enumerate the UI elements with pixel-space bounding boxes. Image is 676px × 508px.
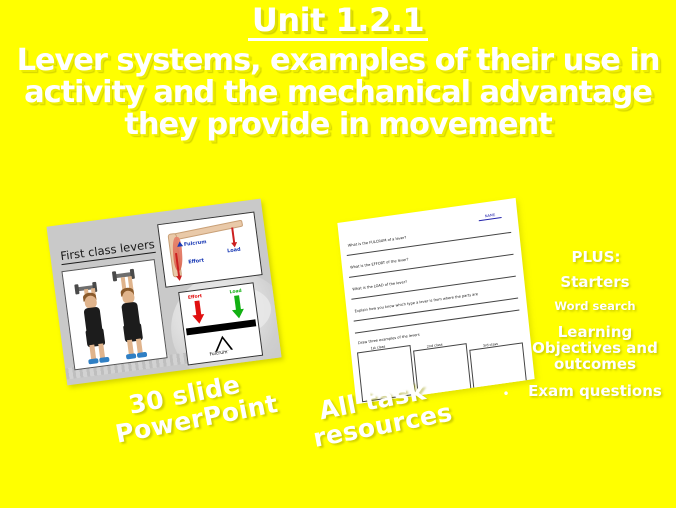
- name-field-label: NAME: [479, 212, 502, 221]
- load-arrow-icon: [232, 295, 243, 318]
- powerpoint-slide-preview[interactable]: First class levers: [46, 199, 281, 386]
- load-label: Load: [227, 247, 241, 255]
- worksheet-question: What is the EFFORT of the lever?: [350, 257, 409, 269]
- bullet-icon: •: [498, 384, 514, 400]
- tricep-extension-photo: [61, 259, 167, 370]
- plus-item: • Starters: [498, 275, 676, 291]
- powerpoint-caption-line1: 30 slide PowerPoint: [108, 368, 265, 448]
- plus-heading: PLUS:: [516, 248, 676, 266]
- plus-item-label: Word search: [514, 300, 676, 312]
- worksheet-question: What is the LOAD of the lever?: [352, 280, 407, 292]
- first-class-lever-diagram: Effort Load Fulcrum: [178, 282, 263, 365]
- plus-item-label: Exam questions: [514, 384, 676, 400]
- plus-item-label: Learning Objectives and outcomes: [514, 325, 676, 372]
- bullet-icon: •: [498, 325, 514, 341]
- arm-lever-diagram: Fulcrum Load Effort: [157, 212, 263, 288]
- lifter-figure: [74, 278, 115, 365]
- bullet-icon: •: [498, 300, 514, 316]
- page-title: Lever systems, examples of their use in …: [0, 45, 676, 142]
- plus-item: • Learning Objectives and outcomes: [498, 325, 676, 372]
- bullet-icon: •: [498, 275, 514, 291]
- powerpoint-caption: 30 slide PowerPoint: [108, 368, 265, 448]
- lifter-figure: [112, 273, 153, 360]
- effort-arrow-icon: [192, 300, 203, 323]
- plus-item: • Word search: [498, 300, 676, 316]
- fulcrum-label: Fulcrum: [184, 239, 207, 248]
- plus-features-list: PLUS: • Starters • Word search • Learnin…: [498, 248, 676, 400]
- resources-caption-line1: All task resources: [306, 376, 444, 452]
- load-arrow-icon: [231, 227, 235, 243]
- draw-instruction: Draw three examples of the levers: [358, 333, 420, 346]
- unit-title: Unit 1.2.1: [248, 4, 428, 41]
- answer-line: [355, 309, 519, 333]
- worksheet-question: What is the FULCRUM of a lever?: [348, 236, 407, 248]
- resources-caption: All task resources: [306, 376, 444, 452]
- effort-label: Effort: [188, 258, 204, 266]
- fulcrum-label: Fulcrum: [209, 350, 228, 357]
- title-block: Unit 1.2.1 Lever systems, examples of th…: [0, 0, 676, 142]
- plus-item-label: Starters: [514, 275, 676, 291]
- plus-item: • Exam questions: [498, 384, 676, 400]
- fulcrum-triangle-inner: [216, 338, 231, 352]
- load-label: Load: [229, 289, 242, 296]
- fulcrum-arrow-icon: [177, 241, 184, 247]
